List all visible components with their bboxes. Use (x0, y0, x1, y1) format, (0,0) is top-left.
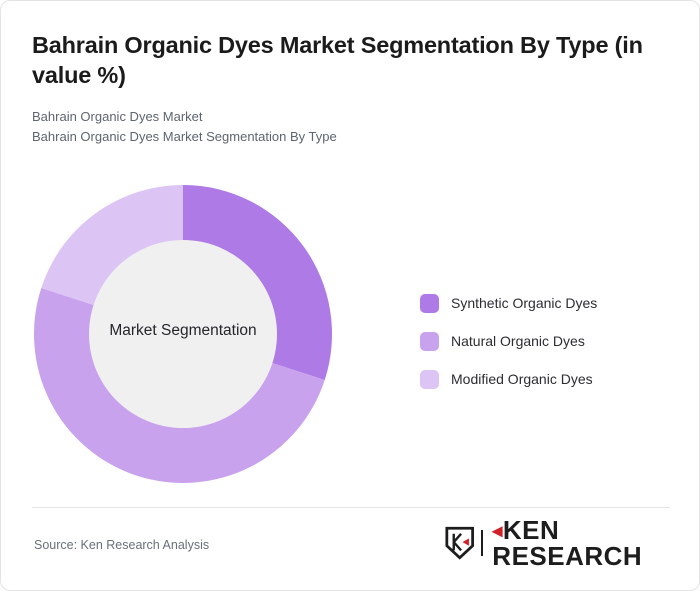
chart-card: Bahrain Organic Dyes Market Segmentation… (0, 0, 700, 591)
legend-item-label: Natural Organic Dyes (451, 333, 585, 349)
subtitle-block: Bahrain Organic Dyes Market Bahrain Orga… (32, 107, 662, 147)
subtitle-segmentation: Bahrain Organic Dyes Market Segmentation… (32, 127, 662, 147)
brand-wordmark: ◂KEN RESEARCH (492, 517, 699, 569)
legend-item-label: Synthetic Organic Dyes (451, 295, 597, 311)
legend-swatch-icon (420, 332, 439, 351)
legend-item[interactable]: Natural Organic Dyes (420, 322, 597, 360)
legend-swatch-icon (420, 294, 439, 313)
donut-slice[interactable] (34, 288, 325, 483)
brand-logo: ◂KEN RESEARCH (445, 525, 699, 561)
brand-arrow-icon: ◂ (492, 520, 503, 542)
donut-center-label: Market Segmentation (34, 322, 332, 340)
donut-slice[interactable] (183, 185, 332, 380)
source-attribution: Source: Ken Research Analysis (34, 538, 209, 552)
page-title: Bahrain Organic Dyes Market Segmentation… (32, 31, 662, 90)
footer-divider (32, 507, 670, 508)
legend-item[interactable]: Synthetic Organic Dyes (420, 284, 597, 322)
chart-legend: Synthetic Organic DyesNatural Organic Dy… (420, 284, 597, 398)
card-header: Bahrain Organic Dyes Market Segmentation… (32, 31, 662, 148)
brand-name-text: KEN RESEARCH (492, 515, 642, 571)
shield-k-icon (445, 525, 474, 561)
subtitle-market: Bahrain Organic Dyes Market (32, 107, 662, 127)
legend-item-label: Modified Organic Dyes (451, 371, 593, 387)
legend-item[interactable]: Modified Organic Dyes (420, 360, 597, 398)
legend-swatch-icon (420, 370, 439, 389)
donut-slice[interactable] (41, 185, 183, 334)
brand-divider (481, 530, 483, 556)
